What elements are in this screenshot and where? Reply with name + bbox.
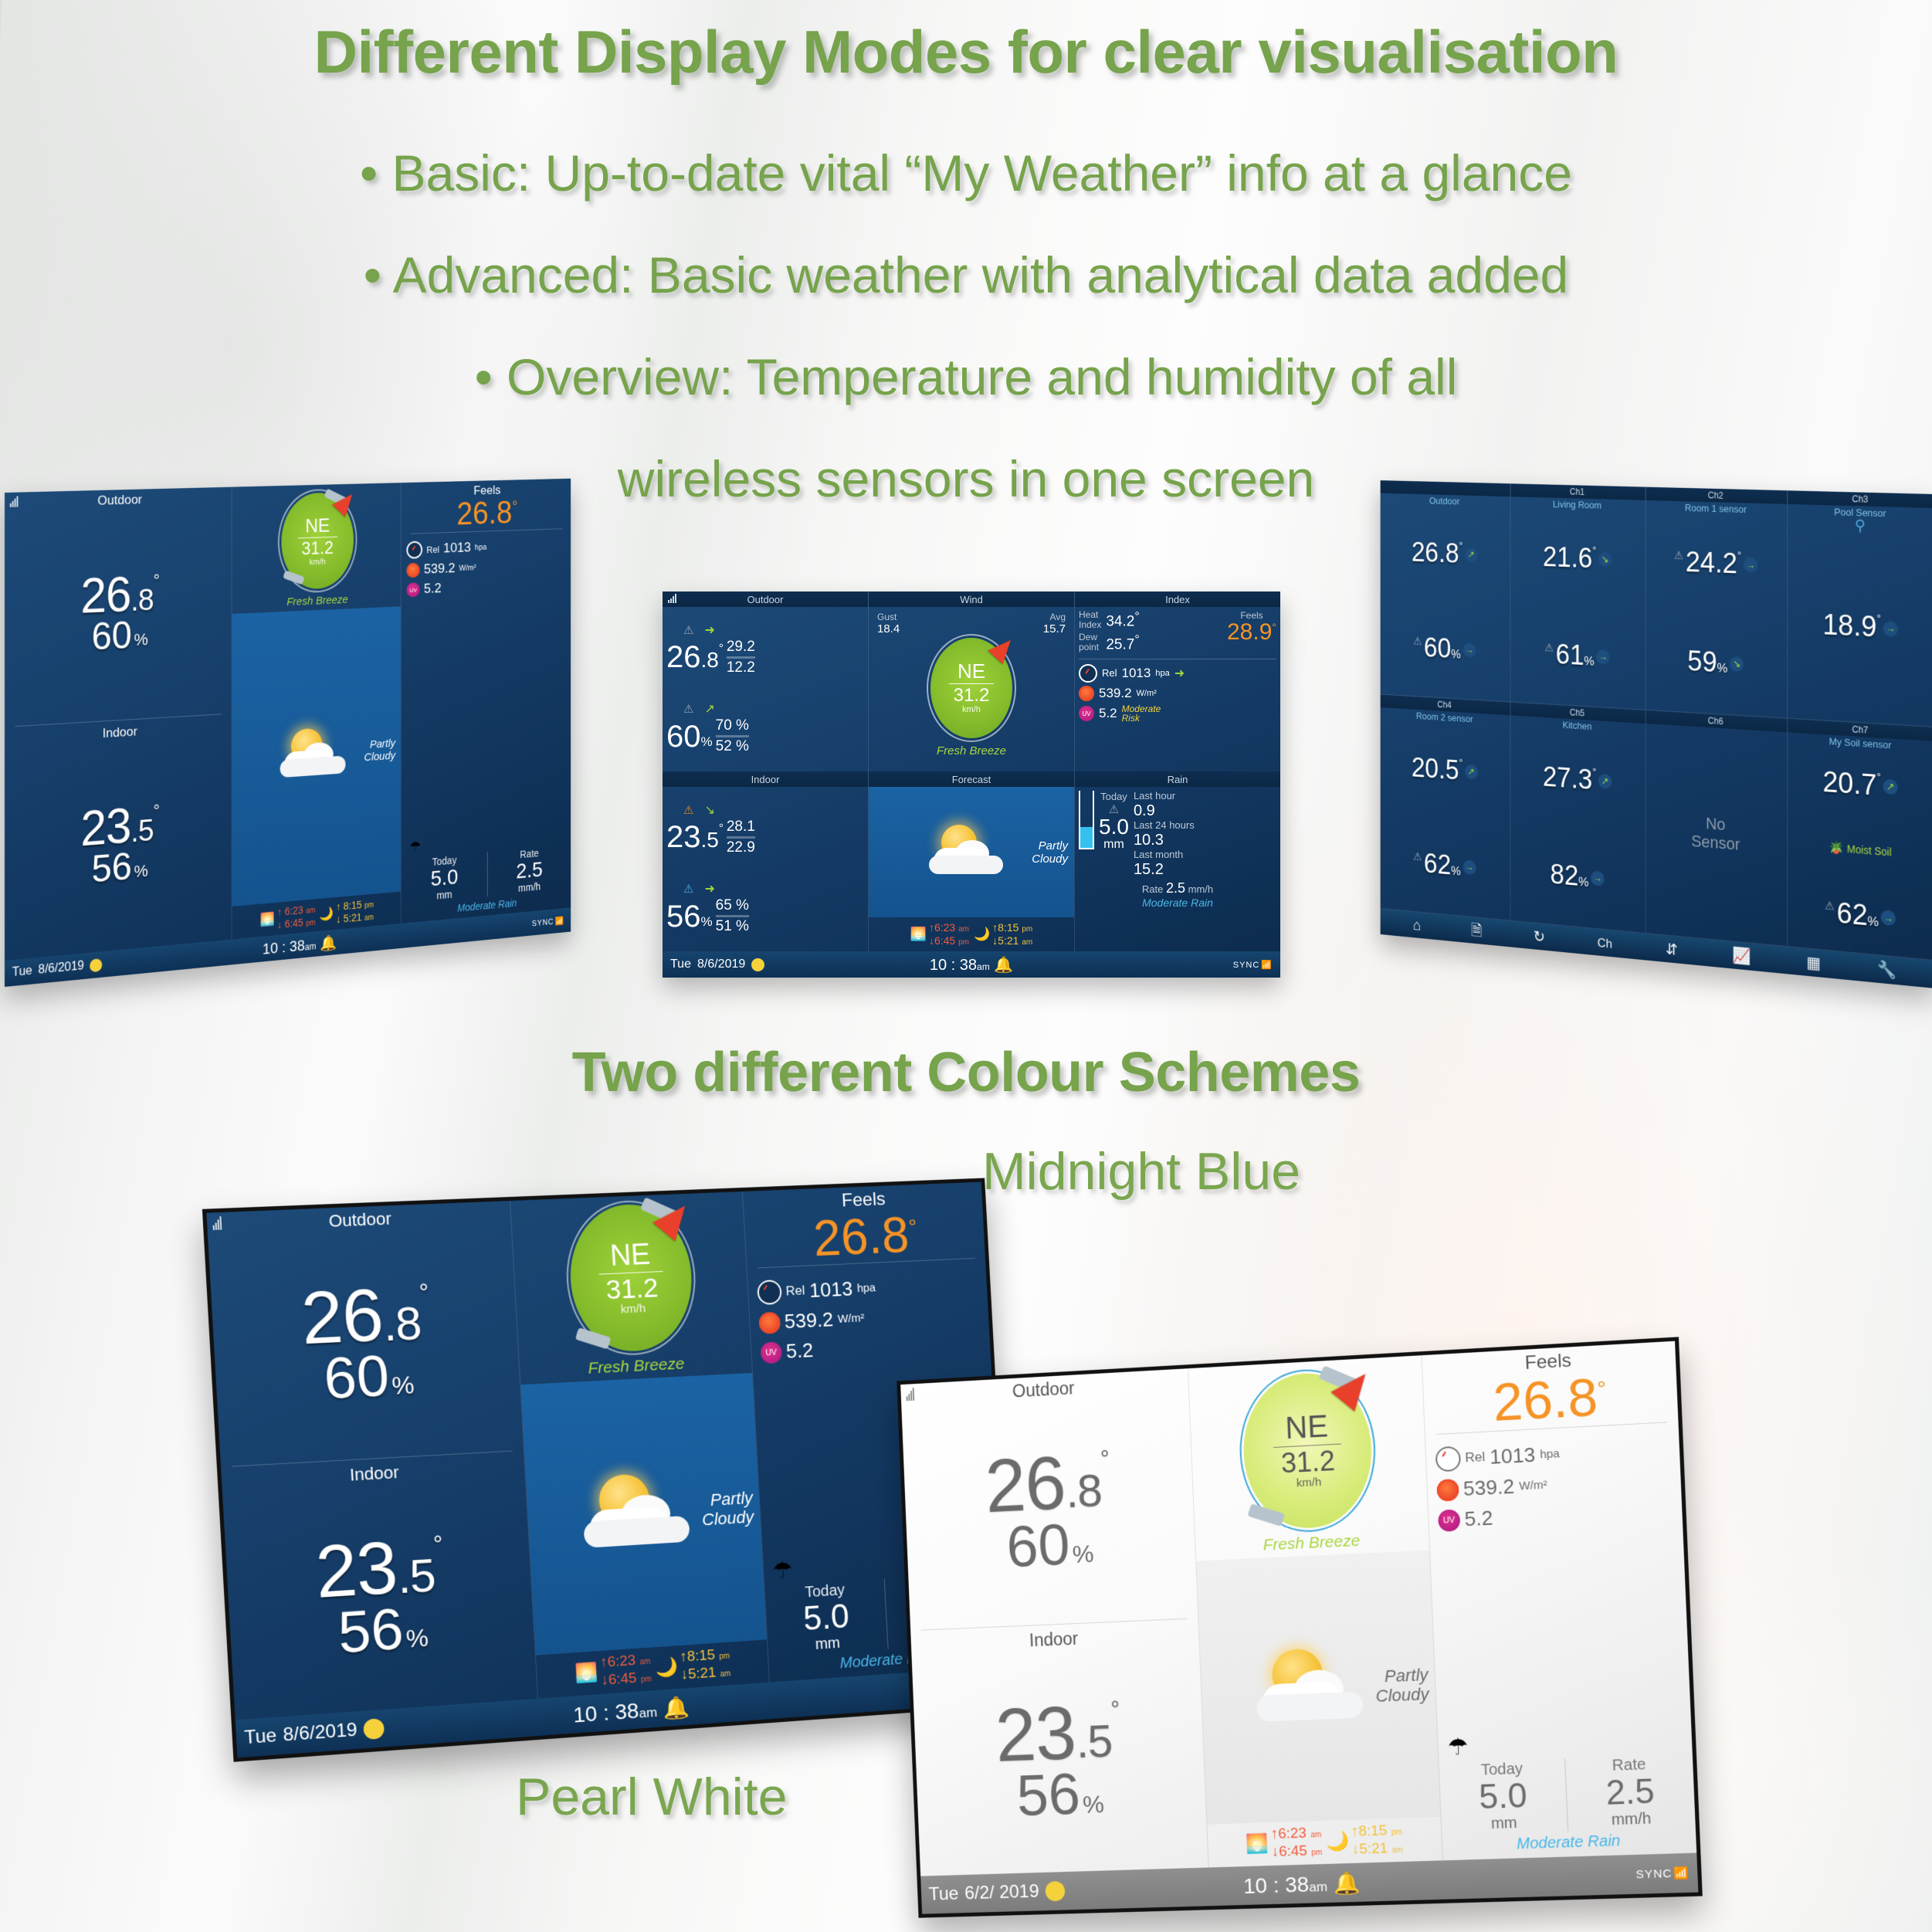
forecast-box[interactable]: PartlyCloudy	[1196, 1551, 1440, 1825]
hum-trend-arrow-icon: ➜	[704, 881, 714, 897]
wind-speed-unit: km/h	[962, 705, 981, 714]
uv-risk-label: ModerateRisk	[1122, 704, 1161, 724]
display-midnight-blue[interactable]: Outdoor 26 .8 ° 60 % Indoor 2	[202, 1178, 1013, 1762]
humidity-value: 82%	[1551, 861, 1589, 890]
partly-cloudy-icon	[280, 726, 354, 784]
pressure-row[interactable]: Rel 1013 hpa	[757, 1270, 978, 1305]
wind-dial[interactable]: NE 31.2 km/h	[1237, 1366, 1379, 1535]
temperature-value: 18.9°	[1822, 612, 1880, 642]
temperature-row: 20.5°↗	[1383, 753, 1507, 788]
moon-phase-icon	[1045, 1881, 1065, 1901]
forecast-box[interactable]: PartlyCloudy	[520, 1373, 767, 1656]
partly-cloudy-icon	[581, 1469, 707, 1557]
forecast-label: PartlyCloudy	[700, 1487, 754, 1529]
wind-avg: Avg15.7	[1043, 612, 1066, 636]
temperature-row: 26.8°↗	[1383, 539, 1507, 569]
outdoor-temperature: 26 .8 °	[666, 643, 724, 671]
moon-up-arrow-icon: ↑	[336, 900, 341, 913]
weekday: Tue	[670, 958, 691, 971]
temp-trend-arrow-icon: ↗	[1598, 774, 1612, 789]
wind-direction: NE	[305, 515, 330, 535]
indoor-humidity: 56 %	[1015, 1768, 1104, 1822]
sun-up-arrow-icon: ↑	[929, 921, 934, 934]
barometer-icon	[1435, 1446, 1461, 1473]
alert-triangle-icon: ⚠	[683, 702, 693, 716]
rain-rate[interactable]: Rate 2.5 mm/h	[1564, 1754, 1696, 1831]
calendar-icon[interactable]: ▦	[1806, 954, 1821, 971]
outdoor-humidity: 60 %	[323, 1349, 415, 1405]
wind-speed-unit: km/h	[1296, 1476, 1322, 1490]
display-basic-mode[interactable]: Outdoor 26 .8 ° 60 % Indoor 2	[5, 479, 571, 987]
plant-icon: 🪴	[1829, 840, 1843, 856]
indoor-humidity: 56 %	[666, 903, 713, 930]
soil-label: Moist Soil	[1847, 843, 1892, 859]
overview-cell-ch4[interactable]: Ch4Room 2 sensor20.5°↗⚠62%→	[1381, 694, 1510, 920]
alarm-icon: 🔔	[1333, 1870, 1361, 1895]
heat-index-value: 34.2°	[1106, 610, 1139, 630]
alert-triangle-icon: ⚠	[1674, 549, 1683, 563]
advanced-tile-indoor[interactable]: Indoor ⚠ ↘ 23 .	[663, 771, 868, 951]
rain-gauge-icon	[1079, 791, 1094, 849]
outdoor-humidity: 60 %	[1005, 1517, 1094, 1574]
overview-cell-outdoor[interactable]: Outdoor26.8°↗⚠60%→	[1381, 480, 1510, 702]
overview-cell-ch5[interactable]: Ch5Kitchen27.3°↗82%→	[1510, 702, 1646, 934]
sunrise-sunset: 🌅 ↑6:23 am ↓6:45 pm	[1246, 1825, 1323, 1862]
alarm-icon: 🔔	[662, 1694, 690, 1720]
humidity-row: ⚠62%→	[1790, 896, 1931, 936]
advanced-tile-index[interactable]: Index HeatIndex Dewpoint 34.2° 25.7°	[1074, 591, 1280, 771]
wind-speed: 31.2	[605, 1274, 659, 1303]
rain-today[interactable]: Today ⚠ 5.0 mm	[1099, 791, 1129, 879]
clock[interactable]: 10 : 38am 🔔	[930, 955, 1013, 974]
tile-title: Index	[1075, 591, 1280, 607]
outdoor-humidity: 60 %	[666, 723, 713, 751]
moon-icon: 🌙	[655, 1656, 679, 1679]
sunrise-sunset: 🌅 ↑ 6:23 am ↓ 6:45 pm	[260, 903, 315, 932]
bullet-advanced: • Advanced: Basic weather with analytica…	[0, 246, 1932, 304]
wind-speed-unit: km/h	[620, 1302, 646, 1316]
indoor-temp-minmax: 28.1 22.9	[727, 818, 755, 857]
display-pearl-white[interactable]: Outdoor 26 .8 ° 60 % Indoor 2	[897, 1337, 1703, 1917]
moon-phase-icon	[90, 958, 102, 972]
overview-cell-ch1[interactable]: Ch1Living Room21.6°↘⚠61%→	[1510, 483, 1646, 710]
wifi-icon: 📶	[555, 916, 564, 926]
sunrise-sunset: 🌅 ↑6:23 am ↓6:45 pm	[575, 1652, 652, 1692]
wind-gust: Gust18.4	[877, 612, 900, 636]
sun-up-arrow-icon: ↑	[277, 906, 282, 918]
pw-middle-column: NE 31.2 km/h Fresh Breeze Par	[1188, 1355, 1443, 1867]
indoor-readings[interactable]: 23 .5 ° 56 %	[222, 1475, 537, 1720]
sun-moon-times: 🌅 ↑6:23 am ↓6:45 pm 🌙 ↑8:15 pm	[869, 917, 1074, 951]
outdoor-readings[interactable]: 26 .8 ° 60 %	[208, 1224, 524, 1465]
temperature-row: 18.9°→	[1790, 610, 1931, 644]
indoor-readings[interactable]: 23 .5 ° 56 %	[912, 1644, 1208, 1876]
wind-description: Fresh Breeze	[937, 744, 1006, 758]
home-icon[interactable]: ⌂	[1413, 917, 1422, 933]
moonrise-moonset: 🌙 ↑8:15 pm ↓5:21 am	[655, 1646, 731, 1686]
forecast-box[interactable]: Partly Cloudy	[232, 606, 401, 907]
label-midnight-blue: Midnight Blue	[982, 1141, 1300, 1202]
sync-indicator: SYNC📶	[1233, 960, 1273, 970]
moon-down-arrow-icon: ↓	[336, 913, 341, 925]
pw-right-column: Feels 26.8° Rel 1013 hpa 539.2 W/m²	[1422, 1341, 1696, 1861]
temp-trend-arrow-icon: ➜	[704, 622, 714, 638]
humidity-value: 60%	[1424, 635, 1461, 663]
sync-indicator: SYNC📶	[532, 916, 564, 928]
temp-trend-arrow-icon: ↗	[1465, 547, 1478, 562]
mb-left-column: Outdoor 26 .8 ° 60 % Indoor 2	[206, 1201, 537, 1720]
indoor-temperature: 23 .5 °	[666, 823, 724, 851]
rain-rate: Rate 2.5 mm/h	[1079, 880, 1276, 897]
moon-icon: 🌙	[320, 906, 334, 922]
bullet-overview: • Overview: Temperature and humidity of …	[0, 347, 1932, 406]
temperature-row: 27.3°↗	[1513, 762, 1642, 798]
indoor-hum-minmax: 65 % 51 %	[716, 897, 749, 936]
feels-temperature: 26.8°	[744, 1206, 985, 1266]
indoor-temperature: 23 .5 °	[995, 1698, 1122, 1768]
advanced-tile-rain[interactable]: Rain Today ⚠ 5.0 mm Last hour	[1074, 771, 1280, 951]
wind-speed-unit: km/h	[310, 557, 326, 566]
overview-cell-ch6[interactable]: Ch6NoSensor	[1646, 710, 1788, 947]
humidity-value: 62%	[1837, 900, 1879, 930]
barometer-icon	[1079, 664, 1097, 683]
wind-direction: NE	[958, 661, 985, 681]
solar-row[interactable]: 539.2 W/m²	[1436, 1466, 1672, 1502]
tile-title: Outdoor	[663, 591, 868, 607]
pressure-row[interactable]: Rel 1013 hpa	[1435, 1435, 1670, 1473]
hum-trend-arrow-icon: →	[1591, 870, 1605, 886]
sync-indicator: SYNC📶	[1635, 1866, 1690, 1881]
wifi-icon: 📶	[1673, 1866, 1690, 1880]
tile-title: Forecast	[869, 771, 1074, 787]
moon-phase-icon	[363, 1718, 385, 1740]
basic-right-column: Feels 26.8° Rel 1013 hpa 539.2 W/m²	[402, 479, 571, 924]
indoor-humidity: 56 %	[337, 1602, 429, 1659]
outdoor-temperature: 26 .8 °	[80, 571, 159, 617]
mb-middle-column: NE 31.2 km/h Fresh Breeze Par	[510, 1191, 770, 1699]
temperature-row: 20.7°↗	[1790, 766, 1931, 803]
overview-cell-ch7[interactable]: Ch7My Soil sensor20.7°↗🪴Moist Soil⚠62%→	[1788, 719, 1932, 961]
date: 6/2/ 2019	[964, 1881, 1040, 1904]
pw-left-column: Outdoor 26 .8 ° 60 % Indoor 2	[900, 1368, 1208, 1876]
uv-row[interactable]: UV 5.2 ModerateRisk	[1079, 704, 1276, 724]
humidity-row: ⚠61%→	[1513, 639, 1642, 673]
hum-trend-arrow-icon: ↘	[1730, 656, 1744, 671]
settings-wrench-icon[interactable]: 🔧	[1878, 961, 1897, 979]
sunrise-sunset: 🌅 ↑6:23 am ↓6:45 pm	[910, 921, 969, 947]
uv-icon: UV	[407, 582, 420, 598]
schemes-title: Two different Colour Schemes	[0, 1041, 1932, 1104]
hum-trend-arrow-icon: →	[1881, 910, 1896, 927]
sunrise-icon: 🌅	[575, 1661, 598, 1685]
advanced-tile-wind[interactable]: Wind Gust18.4 Avg15.7 NE	[868, 591, 1074, 771]
temperature-value: 20.5°	[1412, 755, 1463, 785]
alarm-icon: 🔔	[994, 957, 1013, 974]
temp-trend-arrow-icon: ↗	[1883, 778, 1898, 795]
rain-today[interactable]: Today 5.0 mm	[764, 1579, 888, 1657]
sunrise-icon: 🌅	[1246, 1832, 1269, 1856]
advanced-tile-outdoor[interactable]: Outdoor ⚠ ➜	[663, 591, 868, 771]
alert-triangle-icon: ⚠	[1413, 634, 1422, 647]
solar-row[interactable]: 539.2 W/m²	[407, 557, 566, 578]
alert-triangle-icon: ⚠	[683, 803, 693, 817]
solar-icon	[407, 563, 420, 578]
wind-speed: 31.2	[302, 539, 334, 558]
rain-rate[interactable]: Rate 2.5 mm/h	[487, 844, 571, 897]
outdoor-readings[interactable]: 26 .8 ° 60 %	[901, 1392, 1198, 1629]
alert-triangle-icon: ⚠	[1544, 641, 1554, 655]
humidity-value: 61%	[1556, 641, 1595, 669]
uv-icon: UV	[1438, 1509, 1460, 1532]
temp-trend-arrow-icon: →	[1883, 621, 1898, 637]
alert-triangle-icon: ⚠	[1825, 899, 1835, 913]
basic-left-column: Outdoor 26 .8 ° 60 % Indoor 2	[5, 487, 232, 961]
temperature-value: 20.7°	[1822, 768, 1880, 800]
signal-strength-icon	[668, 594, 676, 603]
humidity-value: 62%	[1424, 850, 1461, 880]
sunrise-icon: 🌅	[260, 911, 275, 927]
outdoor-readings[interactable]: 26 .8 ° 60 %	[5, 505, 232, 725]
rain-today[interactable]: Today 5.0 mm	[402, 851, 487, 904]
temperature-value: 21.6°	[1543, 544, 1596, 573]
forecast-label: PartlyCloudy	[1032, 839, 1068, 866]
forecast-label: PartlyCloudy	[1374, 1664, 1429, 1706]
outdoor-temperature: 26 .8 °	[984, 1448, 1110, 1520]
no-sensor-message: NoSensor	[1646, 724, 1787, 946]
solar-icon	[1079, 686, 1094, 701]
feels-temperature: 26.8°	[402, 496, 571, 533]
moonrise-moonset: 🌙 ↑ 8:15 pm ↓ 5:21 am	[320, 897, 374, 927]
graph-icon[interactable]: 📈	[1732, 947, 1751, 965]
overview-cell-ch2[interactable]: Ch2Room 1 sensor⚠24.2°→59%↘	[1646, 487, 1788, 719]
soil-status: 🪴Moist Soil	[1790, 837, 1931, 863]
bullet-basic: • Basic: Up-to-date vital “My Weather” i…	[0, 144, 1932, 202]
humidity-row: 82%→	[1513, 858, 1642, 896]
sunrise-icon: 🌅	[910, 927, 927, 942]
solar-icon	[758, 1311, 781, 1334]
temperature-value: 24.2°	[1686, 549, 1741, 578]
channel-button[interactable]: Ch	[1598, 936, 1612, 950]
wind-dial[interactable]: NE 31.2 km/h	[278, 488, 357, 594]
moonrise-moonset: 🌙 ↑8:15 pm ↓5:21 am	[974, 921, 1032, 947]
feels-block: Feels 28.9°	[1227, 610, 1276, 654]
solar-row[interactable]: 539.2 W/m²	[1079, 686, 1276, 701]
indoor-humidity: 56 %	[92, 849, 148, 887]
heat-index-label: HeatIndex	[1079, 610, 1101, 629]
clock[interactable]: 10 : 38am 🔔	[572, 1693, 690, 1727]
uv-icon: UV	[760, 1341, 782, 1364]
alert-triangle-icon: ⚠	[683, 882, 693, 896]
outdoor-temp-minmax: 29.2 12.2	[727, 638, 755, 677]
temperature-row: ⚠24.2°→	[1649, 547, 1784, 579]
solar-icon	[1436, 1479, 1459, 1502]
alert-triangle-icon: ⚠	[1413, 849, 1422, 863]
page-title: Different Display Modes for clear visual…	[0, 17, 1932, 87]
outdoor-hum-minmax: 70 % 52 %	[716, 717, 749, 756]
temp-trend-arrow-icon: ↘	[1598, 552, 1612, 568]
temperature-value: 26.8°	[1412, 540, 1463, 568]
display-advanced-mode[interactable]: Outdoor ⚠ ➜	[663, 591, 1280, 978]
partly-cloudy-icon	[929, 825, 1014, 880]
wind-direction: NE	[609, 1239, 651, 1270]
moonrise-moonset: 🌙 ↑8:15 pm ↓5:21 am	[1326, 1822, 1404, 1859]
wifi-icon: 📶	[1261, 960, 1273, 970]
tile-title: Rain	[1075, 771, 1280, 787]
sun-down-arrow-icon: ↓	[277, 918, 282, 930]
tile-title: Indoor	[663, 771, 868, 787]
alert-triangle-icon: ⚠	[683, 623, 693, 637]
advanced-tile-forecast[interactable]: Forecast PartlyCloudy 🌅	[868, 771, 1074, 951]
dew-point-value: 25.7°	[1106, 633, 1139, 653]
overview-cell-ch3[interactable]: Ch3Pool Sensor⚲18.9°→	[1788, 490, 1932, 727]
wind-speed: 31.2	[954, 686, 990, 705]
wind-direction: NE	[1285, 1411, 1329, 1444]
temp-trend-arrow-icon: →	[1744, 558, 1757, 573]
wind-dial[interactable]: NE 31.2 km/h	[563, 1198, 700, 1358]
temperature-value: 27.3°	[1543, 764, 1596, 794]
status-bar: Tue 8/6/2019 10 : 38am 🔔 SYNC📶	[663, 951, 1280, 978]
uv-icon: UV	[1079, 706, 1094, 721]
indoor-temperature: 23 .5 °	[314, 1533, 446, 1605]
indoor-readings[interactable]: 23 .5 ° 56 %	[5, 733, 232, 961]
clock[interactable]: 10 : 38am 🔔	[1243, 1869, 1361, 1898]
label-pearl-white: Pearl White	[516, 1767, 787, 1827]
wind-speed: 31.2	[1280, 1447, 1335, 1478]
indoor-temperature: 23 .5 °	[80, 802, 159, 851]
temp-trend-arrow-icon: ↗	[1465, 764, 1478, 780]
partly-cloudy-icon	[1255, 1646, 1381, 1730]
moon-icon: 🌙	[974, 927, 990, 942]
pressure-trend-arrow-icon: ➜	[1174, 666, 1185, 681]
pressure-row[interactable]: Rel 1013 hpa ➜	[1079, 664, 1276, 683]
outdoor-temperature: 26 .8 °	[300, 1280, 431, 1351]
rain-history: Last hour 0.9 Last 24 hours 10.3 Last mo…	[1134, 791, 1195, 879]
barometer-icon	[757, 1280, 782, 1305]
clock[interactable]: 10 : 38am 🔔	[263, 933, 337, 958]
moon-icon: 🌙	[1326, 1830, 1350, 1853]
humidity-row: ⚠60%→	[1383, 632, 1507, 665]
wind-dial[interactable]: NE 31.2 km/h	[927, 634, 1016, 742]
tile-title: Wind	[869, 591, 1074, 607]
sun-moon-times: 🌅 ↑6:23 am ↓6:45 pm 🌙 ↑8:15 pm ↓5:21 am	[1207, 1817, 1442, 1867]
hum-trend-arrow-icon: →	[1596, 649, 1610, 665]
outdoor-humidity: 60 %	[92, 618, 148, 655]
forecast-label: Partly Cloudy	[364, 737, 395, 764]
rain-today[interactable]: Today 5.0 mm	[1439, 1759, 1568, 1835]
date: 8/6/2019	[283, 1719, 358, 1746]
hum-trend-arrow-icon: ↗	[704, 701, 714, 717]
dew-point-label: Dewpoint	[1079, 632, 1101, 652]
report-search-icon[interactable]: 🗎	[1471, 923, 1482, 939]
date: 8/6/2019	[38, 959, 83, 978]
temperature-row: 21.6°↘	[1513, 543, 1642, 574]
sync-refresh-icon[interactable]: ↻	[1534, 928, 1545, 944]
hum-trend-arrow-icon: →	[1463, 642, 1476, 657]
weekday: Tue	[12, 964, 32, 980]
pressure-row[interactable]: Rel 1013 hpa	[407, 536, 566, 559]
date: 8/6/2019	[697, 958, 745, 971]
temp-trend-arrow-icon: ↘	[704, 802, 714, 818]
weekday: Tue	[244, 1725, 277, 1750]
rain-status: Moderate Rain	[1079, 897, 1276, 909]
sun-down-arrow-icon: ↓	[929, 934, 934, 947]
display-overview-mode[interactable]: Outdoor26.8°↗⚠60%→Ch1Living Room21.6°↘⚠6…	[1381, 480, 1932, 988]
hum-trend-arrow-icon: →	[1463, 859, 1476, 875]
solar-row[interactable]: 539.2 W/m²	[758, 1301, 980, 1335]
humidity-value: 59%	[1687, 648, 1727, 677]
alarm-icon: 🔔	[320, 934, 337, 952]
rain-status: Moderate Rain	[1442, 1830, 1696, 1856]
minmax-icon[interactable]: ⇵	[1666, 941, 1678, 958]
humidity-row: ⚠62%→	[1383, 847, 1507, 883]
basic-middle-column: NE 31.2 km/h Fresh Breeze Partly Cloudy	[232, 483, 402, 939]
weekday: Tue	[928, 1883, 959, 1906]
humidity-row: 59%↘	[1649, 646, 1784, 680]
moon-phase-icon	[751, 958, 764, 971]
barometer-icon	[407, 541, 423, 559]
